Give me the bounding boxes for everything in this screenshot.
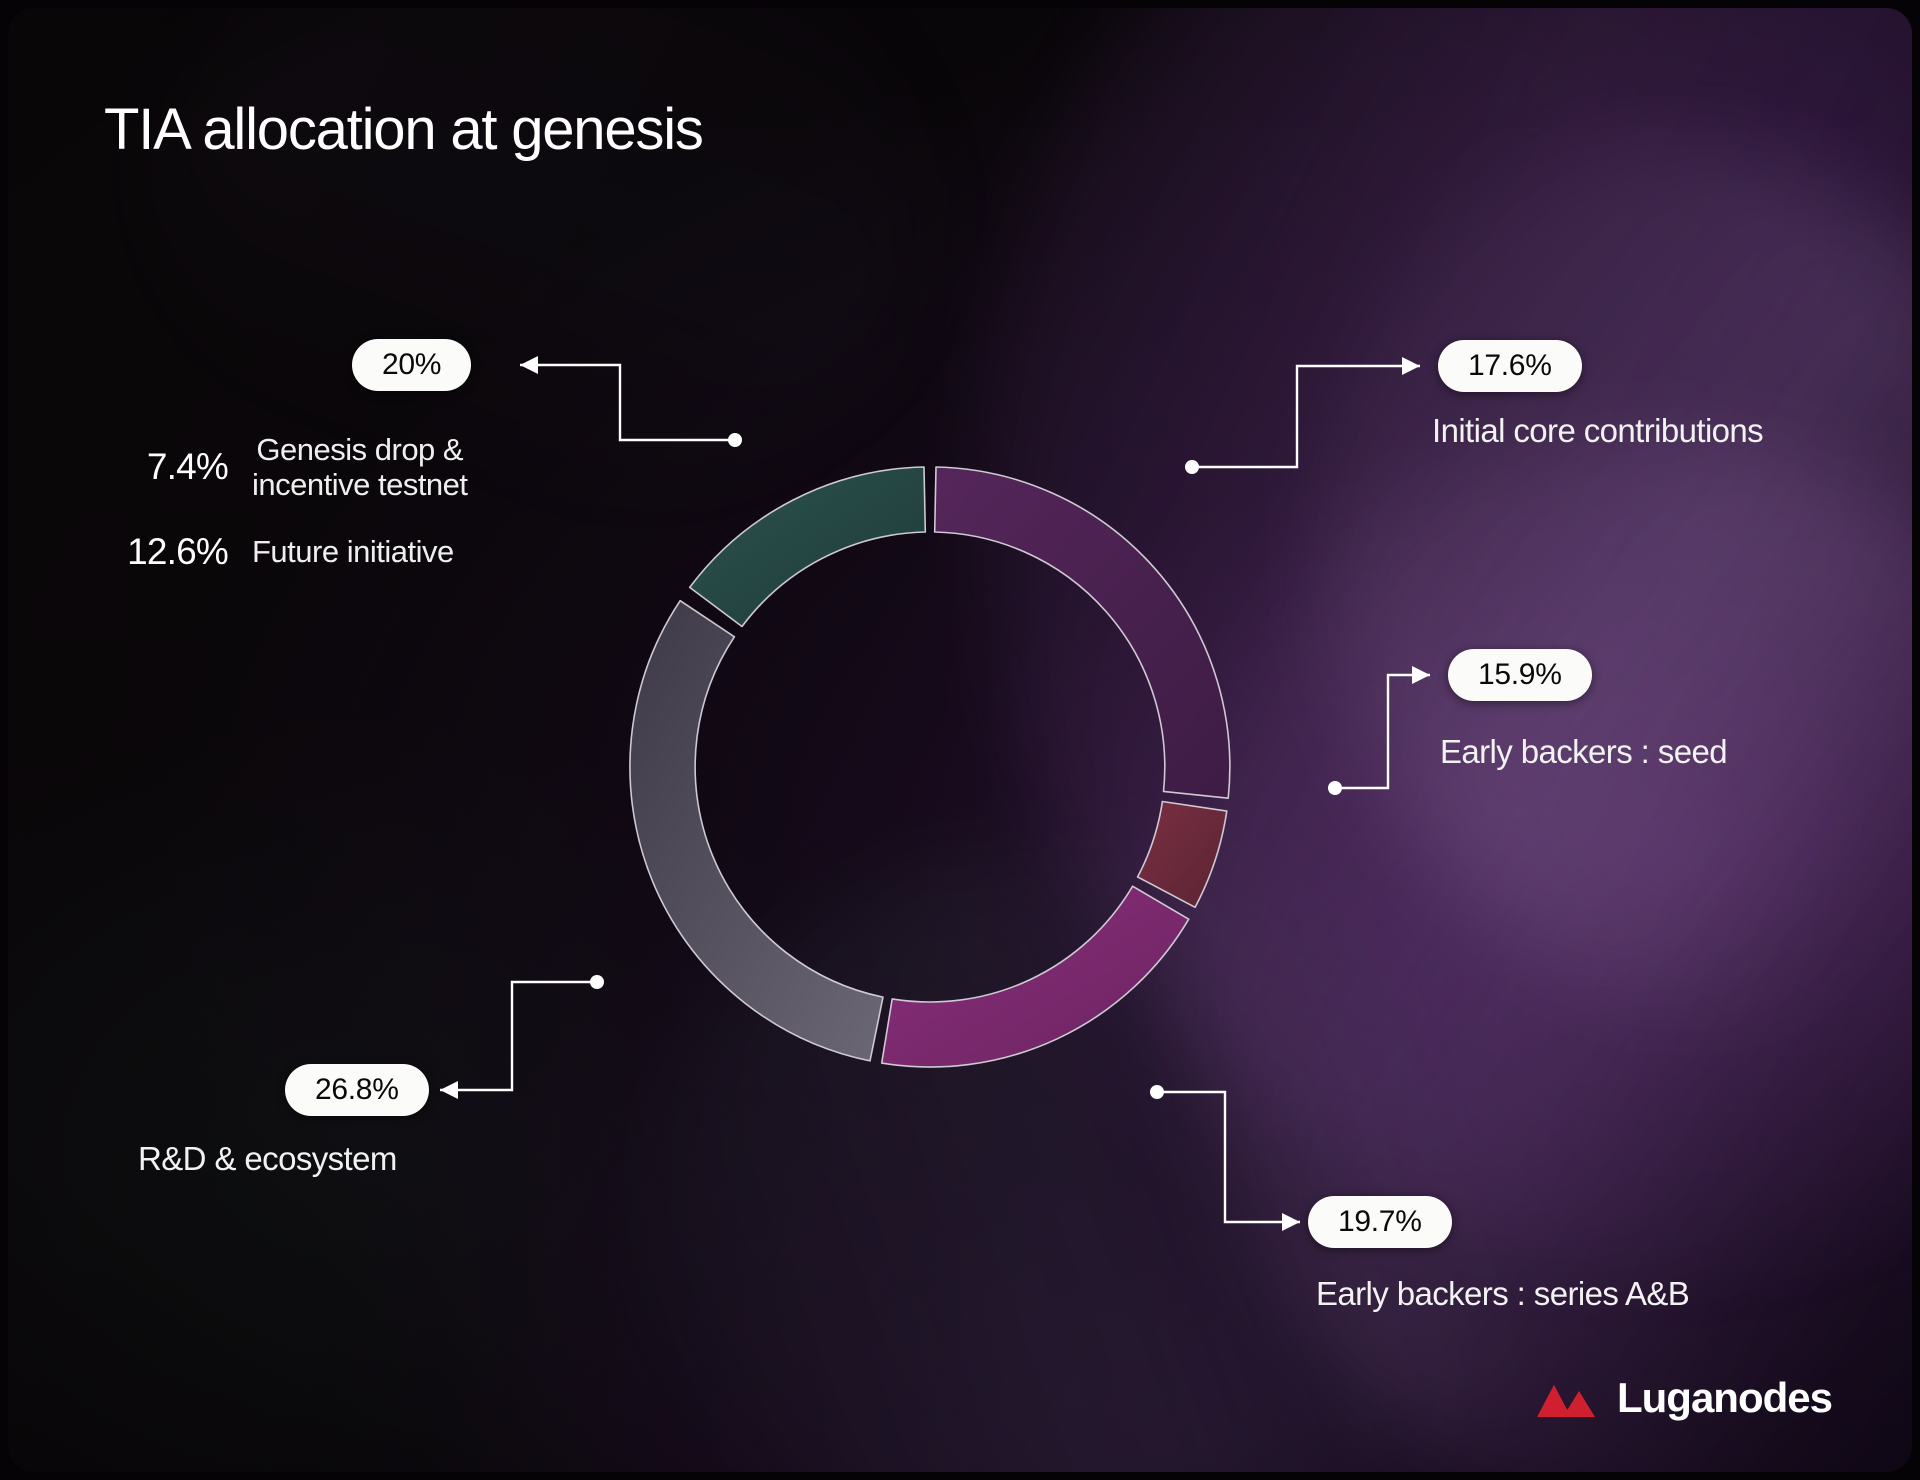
callout-label-rd: R&D & ecosystem bbox=[138, 1140, 397, 1178]
callout-pill-rd[interactable]: 26.8% bbox=[285, 1064, 429, 1116]
callout-pill-series-ab[interactable]: 19.7% bbox=[1308, 1196, 1452, 1248]
brand-logo: Luganodes bbox=[1537, 1374, 1832, 1422]
legend-list: 7.4% Genesis drop & incentive testnet 12… bbox=[100, 432, 520, 601]
page-title: TIA allocation at genesis bbox=[104, 96, 703, 163]
callout-pill-genesis[interactable]: 20% bbox=[352, 339, 471, 391]
legend-label-line2: incentive testnet bbox=[252, 467, 468, 502]
legend-label: Future initiative bbox=[252, 534, 454, 569]
callout-label-series-ab: Early backers : series A&B bbox=[1316, 1275, 1689, 1313]
callout-label-seed: Early backers : seed bbox=[1440, 733, 1727, 771]
callout-pill-seed[interactable]: 15.9% bbox=[1448, 649, 1592, 701]
slice-genesis-teal bbox=[690, 467, 926, 627]
legend-percent: 12.6% bbox=[100, 531, 228, 573]
legend-percent: 7.4% bbox=[100, 446, 228, 488]
legend-label: Genesis drop & incentive testnet bbox=[252, 432, 468, 503]
slice-rd-ecosystem bbox=[630, 601, 883, 1061]
legend-label-line1: Genesis drop & bbox=[252, 432, 468, 467]
legend-row-genesis: 7.4% Genesis drop & incentive testnet bbox=[100, 432, 520, 503]
slice-seed bbox=[1138, 802, 1227, 908]
callout-label-core: Initial core contributions bbox=[1432, 412, 1763, 450]
callout-pill-core[interactable]: 17.6% bbox=[1438, 340, 1582, 392]
slide-canvas: TIA allocation at genesis bbox=[0, 0, 1920, 1480]
mountain-icon bbox=[1537, 1377, 1599, 1419]
legend-row-future: 12.6% Future initiative bbox=[100, 531, 520, 573]
slice-series-ab bbox=[882, 886, 1189, 1067]
slice-core-contrib bbox=[935, 467, 1230, 798]
donut-chart bbox=[540, 372, 1320, 1162]
brand-name: Luganodes bbox=[1617, 1374, 1832, 1422]
